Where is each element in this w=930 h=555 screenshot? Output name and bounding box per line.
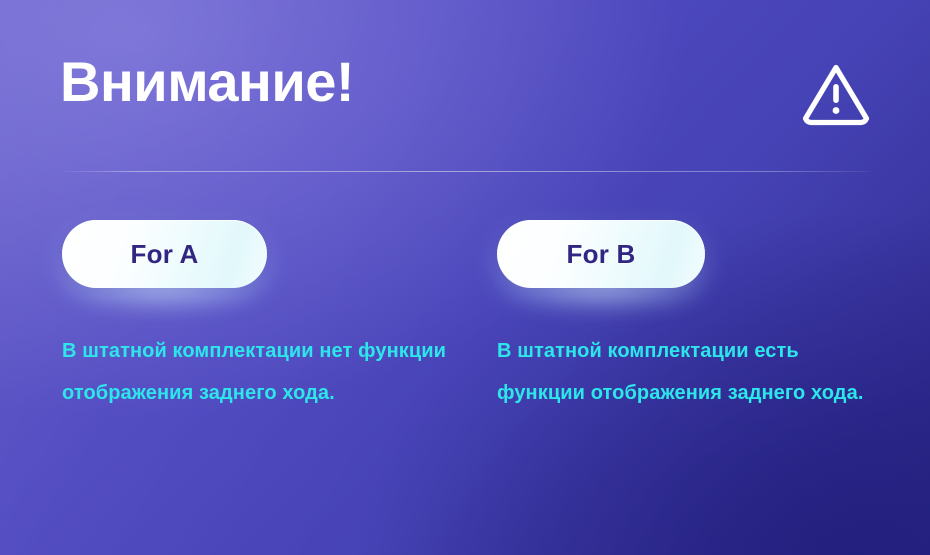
for-b-button-label: For B — [567, 239, 636, 270]
option-column-b: For B В штатной комплектации есть функци… — [497, 220, 897, 414]
option-b-description: В штатной комплектации есть функции отоб… — [497, 288, 887, 414]
for-a-button-label: For A — [131, 239, 199, 270]
warning-slide: Внимание! For A В штатной комплектации н… — [0, 0, 930, 555]
option-a-description: В штатной комплектации нет функции отобр… — [62, 288, 447, 414]
slide-header: Внимание! — [60, 54, 872, 142]
page-title: Внимание! — [60, 54, 872, 110]
for-b-button[interactable]: For B — [497, 220, 705, 288]
button-b-wrapper: For B — [497, 220, 897, 288]
warning-triangle-icon — [800, 60, 872, 128]
option-column-a: For A В штатной комплектации нет функции… — [62, 220, 462, 414]
for-a-button[interactable]: For A — [62, 220, 267, 288]
header-divider — [60, 171, 870, 172]
button-a-wrapper: For A — [62, 220, 462, 288]
